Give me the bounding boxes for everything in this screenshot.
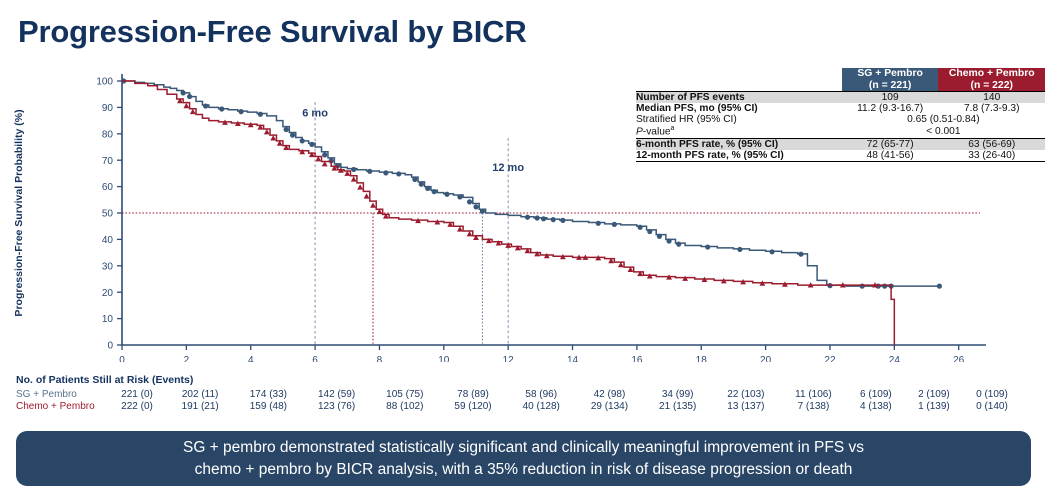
x-tick-label: 4 [248,355,254,362]
summary-row-value: 140 [938,92,1045,104]
summary-row-value: 11.2 (9.3-16.7) [842,103,939,114]
risk-cell: 58 (96) [507,388,575,400]
censor-mark-circle [258,112,263,117]
x-tick-label: 14 [567,355,579,362]
risk-cell: 174 (33) [234,388,302,400]
y-tick-label: 30 [102,261,114,272]
page-title: Progression-Free Survival by BICR [18,14,527,50]
summary-row: Stratified HR (95% CI)0.65 (0.51-0.84) [636,114,1045,125]
chemo-arm-label: Chemo + Pembro [949,68,1035,79]
summary-row: 12-month PFS rate, % (95% CI)48 (41-56)3… [636,150,1045,162]
censor-mark-circle [309,142,314,147]
summary-row-value-span: < 0.001 [842,125,1045,138]
x-tick-label: 18 [696,355,708,362]
sg-arm-label: SG + Pembro [857,68,923,79]
risk-cell: 0 (109) [963,388,1021,400]
risk-cell: 59 (120) [439,400,507,412]
risk-cell: 11 (106) [780,388,847,400]
risk-cell: 142 (59) [302,388,370,400]
y-tick-label: 10 [102,314,114,325]
summary-row: Median PFS, mo (95% CI)11.2 (9.3-16.7)7.… [636,103,1045,114]
censor-mark-circle [367,169,372,174]
summary-header-row: SG + Pembro (n = 221) Chemo + Pembro (n … [636,68,1045,92]
censor-mark-circle [238,109,243,114]
risk-cell: 4 (138) [847,400,905,412]
censor-mark-circle [638,225,643,230]
censor-mark-triangle [534,251,540,256]
censor-mark-circle [769,249,774,254]
summary-row-value: 7.8 (7.3-9.3) [938,103,1045,114]
censor-mark-circle [541,216,546,221]
censor-mark-circle [219,106,224,111]
censor-mark-triangle [270,135,276,140]
efficacy-summary-table: SG + Pembro (n = 221) Chemo + Pembro (n … [636,68,1045,162]
risk-table-grid: SG + Pembro221 (0)202 (11)174 (33)142 (5… [16,388,1021,412]
summary-table-head: SG + Pembro (n = 221) Chemo + Pembro (n … [636,68,1045,92]
censor-mark-circle [300,138,305,143]
censor-mark-circle [444,192,449,197]
risk-cell: 29 (134) [575,400,643,412]
banner-line-2: chemo + pembro by BICR analysis, with a … [195,461,853,478]
risk-cell: 2 (109) [905,388,963,400]
conclusion-banner: SG + pembro demonstrated statistically s… [16,431,1031,486]
censor-mark-triangle [370,202,376,207]
risk-cell: 22 (103) [712,388,780,400]
censor-mark-circle [351,167,356,172]
censor-mark-circle [284,127,289,132]
summary-row: Number of PFS events109140 [636,92,1045,104]
censor-mark-triangle [299,149,305,154]
banner-line-1: SG + pembro demonstrated statistically s… [183,439,864,456]
censor-mark-triangle [515,245,521,250]
y-tick-label: 100 [96,77,113,88]
risk-cell: 6 (109) [847,388,905,400]
risk-cell: 221 (0) [108,388,166,400]
censor-mark-circle [396,171,401,176]
label-6-mo: 6 mo [302,108,328,120]
risk-table-row: Chemo + Pembro222 (0)191 (21)159 (48)123… [16,400,1021,412]
y-axis-title: Progression-Free Survival Probability (%… [13,109,25,316]
risk-cell: 42 (98) [575,388,643,400]
censor-mark-circle [657,234,662,239]
censor-mark-triangle [357,184,363,189]
censor-mark-circle [181,90,186,95]
risk-cell: 202 (11) [166,388,234,400]
censor-mark-circle [666,238,671,243]
censor-mark-circle [290,133,295,138]
risk-cell: 105 (75) [371,388,439,400]
summary-row-value: 33 (26-40) [938,150,1045,162]
footnote-marker: a [671,125,675,132]
risk-cell: 78 (89) [439,388,507,400]
summary-row-value: 48 (41-56) [842,150,939,162]
x-tick-label: 10 [438,355,450,362]
y-tick-label: 50 [102,209,114,220]
banner-text: SG + pembro demonstrated statistically s… [183,437,864,481]
censor-mark-circle [798,252,803,257]
summary-row-label: Stratified HR (95% CI) [636,114,842,125]
risk-cell: 34 (99) [644,388,712,400]
risk-table-heading: No. of Patients Still at Risk (Events) [16,374,1036,386]
summary-row-value: 109 [842,92,939,104]
x-tick-label: 26 [953,355,965,362]
x-tick-label: 16 [631,355,643,362]
x-tick-label: 2 [184,355,190,362]
x-tick-label: 12 [503,355,515,362]
risk-cell: 13 (137) [712,400,780,412]
censor-mark-circle [551,217,556,222]
censor-mark-circle [425,186,430,191]
censor-mark-circle [596,221,601,226]
risk-cell: 0 (140) [963,400,1021,412]
censor-mark-triangle [183,103,189,108]
y-tick-label: 70 [102,156,114,167]
label-12-mo: 12 mo [492,162,524,174]
x-tick-label: 0 [119,355,125,362]
censor-mark-circle [937,284,942,289]
censor-mark-circle [525,215,530,220]
censor-mark-triangle [364,193,370,198]
censor-mark-triangle [467,231,473,236]
y-tick-label: 40 [102,235,114,246]
summary-row-value: 63 (56-69) [938,138,1045,150]
censor-mark-circle [473,204,478,209]
censor-mark-circle [860,284,865,289]
censor-mark-triangle [190,109,196,114]
risk-row-label: Chemo + Pembro [16,400,108,412]
censor-mark-triangle [264,129,270,134]
censor-mark-circle [419,182,424,187]
x-tick-label: 24 [889,355,901,362]
summary-row-label: Number of PFS events [636,92,842,104]
censor-mark-triangle [351,176,357,181]
y-tick-label: 60 [102,182,114,193]
summary-row: P-valuea< 0.001 [636,125,1045,138]
censor-mark-circle [412,177,417,182]
censor-mark-circle [467,199,472,204]
censor-mark-circle [612,222,617,227]
censor-mark-circle [322,152,327,157]
risk-cell: 1 (139) [905,400,963,412]
x-tick-label: 20 [760,355,772,362]
x-tick-label: 8 [377,355,383,362]
censor-mark-circle [203,103,208,108]
censor-mark-triangle [486,238,492,243]
summary-row-value: 72 (65-77) [842,138,939,150]
censor-mark-circle [187,94,192,99]
summary-row-label: P-valuea [636,125,842,138]
y-tick-label: 0 [107,341,113,352]
censor-mark-circle [560,218,565,223]
censor-mark-circle [383,170,388,175]
sg-arm-n: (n = 221) [869,80,911,91]
risk-cell: 21 (135) [644,400,712,412]
censor-mark-circle [535,215,540,220]
chemo-arm-n: (n = 222) [971,80,1013,91]
censor-mark-circle [705,244,710,249]
risk-cell: 40 (128) [507,400,575,412]
censor-mark-circle [457,194,462,199]
risk-table-row: SG + Pembro221 (0)202 (11)174 (33)142 (5… [16,388,1021,400]
censor-mark-circle [432,189,437,194]
summary-table-body: Number of PFS events109140Median PFS, mo… [636,92,1045,161]
risk-table: No. of Patients Still at Risk (Events) S… [16,374,1036,412]
risk-cell: 88 (102) [371,400,439,412]
summary-header-sg: SG + Pembro (n = 221) [842,68,939,92]
censor-mark-triangle [505,243,511,248]
y-tick-label: 80 [102,129,114,140]
censor-mark-circle [676,242,681,247]
summary-row: 6-month PFS rate, % (95% CI)72 (65-77)63… [636,138,1045,150]
risk-row-label: SG + Pembro [16,388,108,400]
summary-row-label: 12-month PFS rate, % (95% CI) [636,150,842,162]
summary-row-value-span: 0.65 (0.51-0.84) [842,114,1045,125]
summary-header-chemo: Chemo + Pembro (n = 222) [938,68,1045,92]
censor-mark-circle [737,247,742,252]
risk-cell: 123 (76) [302,400,370,412]
summary-row-label: 6-month PFS rate, % (95% CI) [636,138,842,150]
censor-mark-circle [480,209,485,214]
summary-header-blank [636,68,842,92]
risk-cell: 222 (0) [108,400,166,412]
censor-mark-triangle [457,226,463,231]
x-tick-label: 22 [824,355,836,362]
censor-mark-triangle [496,240,502,245]
censor-mark-circle [882,284,887,289]
risk-cell: 7 (138) [780,400,847,412]
x-tick-label: 6 [312,355,318,362]
summary-row-label: Median PFS, mo (95% CI) [636,103,842,114]
risk-cell: 159 (48) [234,400,302,412]
risk-table-body: SG + Pembro221 (0)202 (11)174 (33)142 (5… [16,388,1021,412]
censor-mark-circle [647,229,652,234]
y-tick-label: 20 [102,288,114,299]
risk-cell: 191 (21) [166,400,234,412]
y-tick-label: 90 [102,103,114,114]
